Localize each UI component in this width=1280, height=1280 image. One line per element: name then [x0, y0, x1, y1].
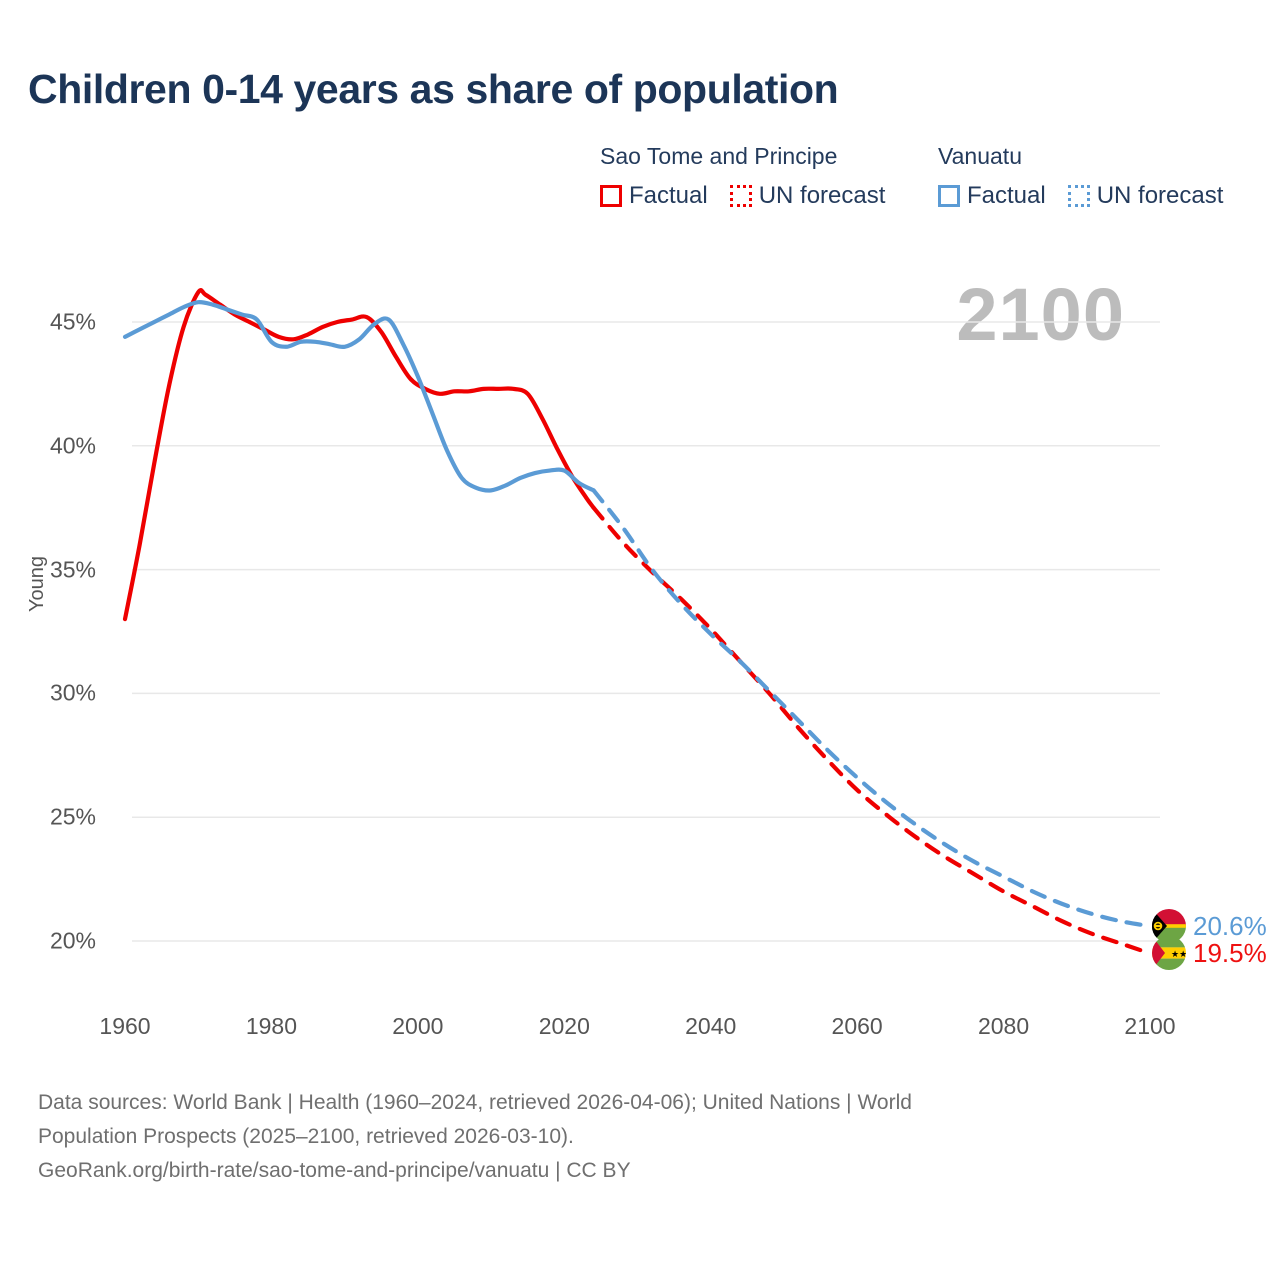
y-axis-tick-label: 40% — [0, 432, 96, 459]
gridlines — [132, 322, 1160, 941]
series-line-vanuatu-forecast — [594, 490, 1150, 926]
y-axis-tick-label: 25% — [0, 804, 96, 831]
footer-line-3: GeoRank.org/birth-rate/sao-tome-and-prin… — [38, 1154, 1238, 1188]
series-line-sao-tome-and-principe-forecast — [594, 508, 1150, 954]
svg-text:★★: ★★ — [1171, 950, 1186, 960]
x-axis-tick-label: 2000 — [392, 1013, 443, 1040]
series-line-vanuatu-factual — [125, 302, 594, 490]
y-axis-tick-label: 45% — [0, 309, 96, 336]
end-marker-sao-tome-and-principe: ★★19.5% — [1152, 936, 1267, 970]
x-axis-tick-label: 2060 — [832, 1013, 883, 1040]
x-axis-tick-label: 2020 — [539, 1013, 590, 1040]
series-lines — [125, 290, 1150, 953]
y-axis-tick-label: 35% — [0, 556, 96, 583]
x-axis-tick-label: 1980 — [246, 1013, 297, 1040]
x-axis-tick-label: 2040 — [685, 1013, 736, 1040]
y-axis-tick-label: 30% — [0, 680, 96, 707]
footer-line-2: Population Prospects (2025–2100, retriev… — [38, 1120, 1238, 1154]
flag-icon-sao-tome-and-principe: ★★ — [1152, 936, 1186, 970]
footer-note: Data sources: World Bank | Health (1960–… — [38, 1086, 1238, 1188]
x-axis-tick-label: 2100 — [1124, 1013, 1175, 1040]
y-axis-tick-label: 20% — [0, 928, 96, 955]
chart-page: Children 0-14 years as share of populati… — [0, 0, 1280, 1280]
footer-line-1: Data sources: World Bank | Health (1960–… — [38, 1086, 1238, 1120]
x-axis-tick-label: 1960 — [99, 1013, 150, 1040]
x-axis-tick-label: 2080 — [978, 1013, 1029, 1040]
end-value-label: 19.5% — [1193, 938, 1267, 969]
